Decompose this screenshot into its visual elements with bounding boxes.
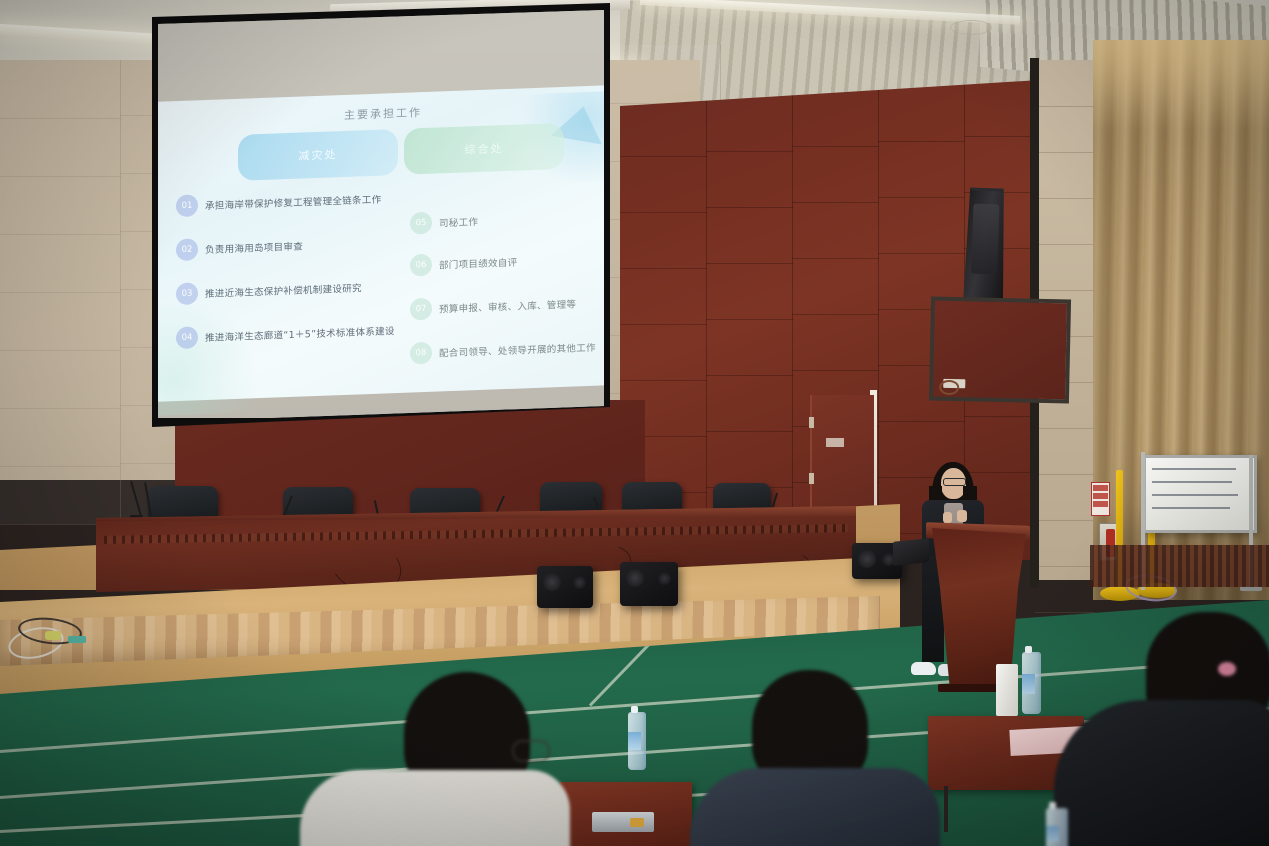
slide-decoration-glow-2 bbox=[158, 302, 272, 417]
water-bottle bbox=[1022, 652, 1041, 714]
slide-item-number: 01 bbox=[176, 194, 198, 217]
hair-tie bbox=[1218, 662, 1236, 676]
glasses-icon bbox=[512, 740, 550, 762]
wall-cable-ring-icon bbox=[939, 380, 959, 395]
slide-item-number: 02 bbox=[176, 238, 198, 261]
slide-item-number: 06 bbox=[410, 254, 432, 277]
slide-column-header-right: 综合处 bbox=[404, 123, 564, 175]
slide-item-number: 05 bbox=[410, 212, 432, 235]
recessed-wall-frame bbox=[929, 297, 1071, 404]
stage-speaker bbox=[537, 566, 593, 608]
curtain-highlight bbox=[1093, 40, 1269, 130]
audience-jacket bbox=[300, 770, 570, 846]
red-wall-sign bbox=[1091, 482, 1110, 516]
slide-item-number: 08 bbox=[410, 342, 432, 365]
slide-item: 03 推进近海生态保护补偿机制建设研究 bbox=[176, 276, 362, 305]
slide-item: 07 预算申报、审核、入库、管理等 bbox=[410, 292, 576, 320]
glasses-icon bbox=[943, 478, 966, 486]
slide-item-text: 推进近海生态保护补偿机制建设研究 bbox=[205, 280, 362, 300]
conference-hall-photo: 主要承担工作 减灾处 综合处 01 承担海岸带保护修复工程管理全链条工作 02 … bbox=[0, 0, 1269, 846]
slide-item-text: 预算申报、审核、入库、管理等 bbox=[439, 296, 576, 315]
water-bottle bbox=[1046, 808, 1068, 846]
snack-tray bbox=[592, 812, 654, 832]
door-plate bbox=[826, 438, 844, 447]
presenter-shoe bbox=[911, 662, 936, 675]
slide-item-text: 配合司领导、处领导开展的其他工作 bbox=[439, 340, 596, 360]
teal-cable-tie bbox=[68, 636, 86, 643]
column-header-label: 综合处 bbox=[465, 140, 504, 157]
table-leg bbox=[944, 786, 948, 832]
audience-puffer-jacket bbox=[1054, 700, 1269, 846]
wall-speaker-icon bbox=[963, 187, 1007, 305]
water-bottle bbox=[628, 712, 646, 770]
slide-item-text: 司秘工作 bbox=[439, 214, 478, 229]
paper-cup bbox=[996, 664, 1018, 716]
slide-item-number: 04 bbox=[176, 326, 198, 349]
slide-item: 05 司秘工作 bbox=[410, 210, 478, 235]
audience-jacket bbox=[690, 768, 940, 846]
ceiling-vent-icon bbox=[950, 20, 992, 35]
whiteboard bbox=[1143, 455, 1257, 533]
slide-item-text: 推进海洋生态廊道“1＋5”技术标准体系建设 bbox=[205, 323, 395, 344]
snack-item bbox=[630, 818, 644, 827]
slide-item-text: 部门项目绩效自评 bbox=[439, 255, 517, 272]
slide-item: 02 负责用海用岛项目审查 bbox=[176, 234, 303, 261]
slide-column-header-left: 减灾处 bbox=[238, 129, 398, 181]
slide-item: 01 承担海岸带保护修复工程管理全链条工作 bbox=[176, 188, 381, 218]
laptop bbox=[893, 538, 929, 566]
projection-screen: 主要承担工作 减灾处 综合处 01 承担海岸带保护修复工程管理全链条工作 02 … bbox=[158, 10, 606, 418]
slide-item: 08 配合司领导、处领导开展的其他工作 bbox=[410, 336, 596, 365]
wall-grille bbox=[1090, 545, 1269, 587]
presenter-hand bbox=[957, 510, 967, 522]
presenter-hand bbox=[943, 512, 952, 523]
slide-item: 06 部门项目绩效自评 bbox=[410, 251, 517, 277]
slide-item-text: 承担海岸带保护修复工程管理全链条工作 bbox=[205, 192, 381, 212]
slide-item-text: 负责用海用岛项目审查 bbox=[205, 238, 303, 256]
column-header-label: 减灾处 bbox=[299, 146, 338, 163]
stage-speaker bbox=[620, 562, 678, 606]
presentation-slide: 主要承担工作 减灾处 综合处 01 承担海岸带保护修复工程管理全链条工作 02 … bbox=[158, 85, 606, 402]
slide-item-number: 07 bbox=[410, 298, 432, 321]
yellow-tape-object bbox=[45, 631, 61, 640]
slide-item-number: 03 bbox=[176, 282, 198, 305]
